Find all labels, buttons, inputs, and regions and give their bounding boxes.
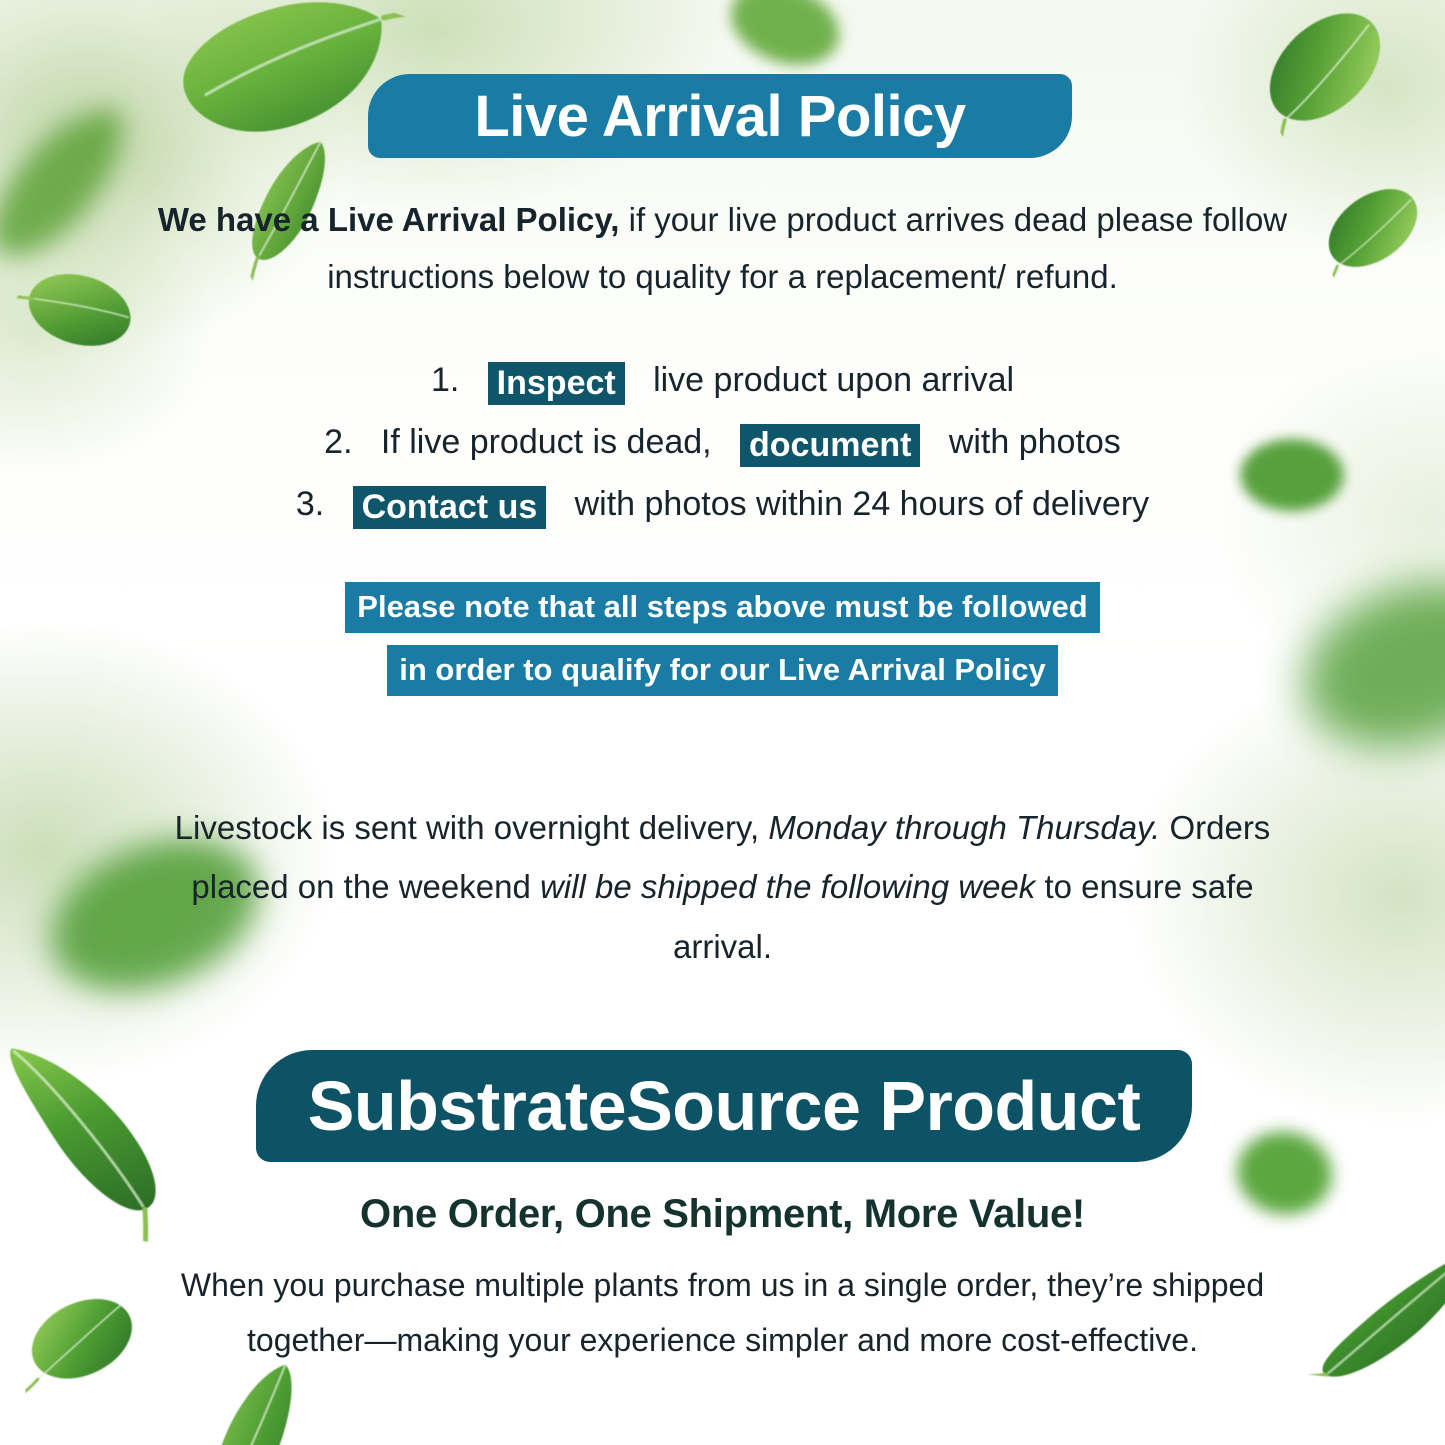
value-paragraph: When you purchase multiple plants from u…	[150, 1258, 1295, 1368]
step-text-after: live product upon arrival	[653, 361, 1014, 399]
shipping-text-italic1: Monday through Thursday.	[768, 809, 1160, 846]
leaf-icon	[1288, 1223, 1445, 1390]
intro-bold-text: We have a Live Arrival Policy,	[158, 201, 620, 238]
policy-note-line-2: in order to qualify for our Live Arrival…	[387, 645, 1058, 696]
live-arrival-policy-title: Live Arrival Policy	[474, 83, 965, 150]
step-chip-document[interactable]: document	[740, 424, 920, 467]
step-text-after: with photos	[949, 423, 1121, 461]
step-chip-inspect[interactable]: Inspect	[488, 362, 625, 405]
substratesource-product-title: SubstrateSource Product	[308, 1066, 1141, 1146]
shipping-text-italic2: will be shipped the following week	[540, 868, 1035, 905]
leaf-icon	[1305, 165, 1441, 292]
policy-note-line-1: Please note that all steps above must be…	[345, 582, 1099, 633]
step-text-before: If live product is dead,	[381, 423, 712, 461]
step-number: 1.	[431, 361, 459, 399]
policy-note-block: Please note that all steps above must be…	[150, 582, 1295, 696]
leaf-icon	[1235, 0, 1414, 152]
list-item: 3. Contact us with photos within 24 hour…	[150, 474, 1295, 536]
list-item: 2. If live product is dead, document wit…	[150, 412, 1295, 474]
intro-paragraph: We have a Live Arrival Policy, if your l…	[150, 192, 1295, 306]
step-chip-contact-us[interactable]: Contact us	[353, 486, 547, 529]
step-number: 3.	[296, 485, 324, 523]
value-heading: One Order, One Shipment, More Value!	[150, 1192, 1295, 1237]
step-text-after: with photos within 24 hours of delivery	[575, 485, 1150, 523]
shipping-text-part1: Livestock is sent with overnight deliver…	[175, 809, 769, 846]
steps-list: 1. Inspect live product upon arrival 2. …	[150, 350, 1295, 536]
leaf-icon	[19, 1286, 146, 1394]
leaf-icon	[4, 234, 158, 383]
shipping-schedule-paragraph: Livestock is sent with overnight deliver…	[150, 798, 1295, 976]
step-number: 2.	[324, 423, 352, 461]
live-arrival-policy-banner: Live Arrival Policy	[368, 74, 1072, 158]
list-item: 1. Inspect live product upon arrival	[150, 350, 1295, 412]
policy-infographic: Live Arrival Policy We have a Live Arriv…	[0, 0, 1445, 1445]
substratesource-product-banner: SubstrateSource Product	[256, 1050, 1192, 1162]
leaf-icon	[0, 91, 164, 275]
